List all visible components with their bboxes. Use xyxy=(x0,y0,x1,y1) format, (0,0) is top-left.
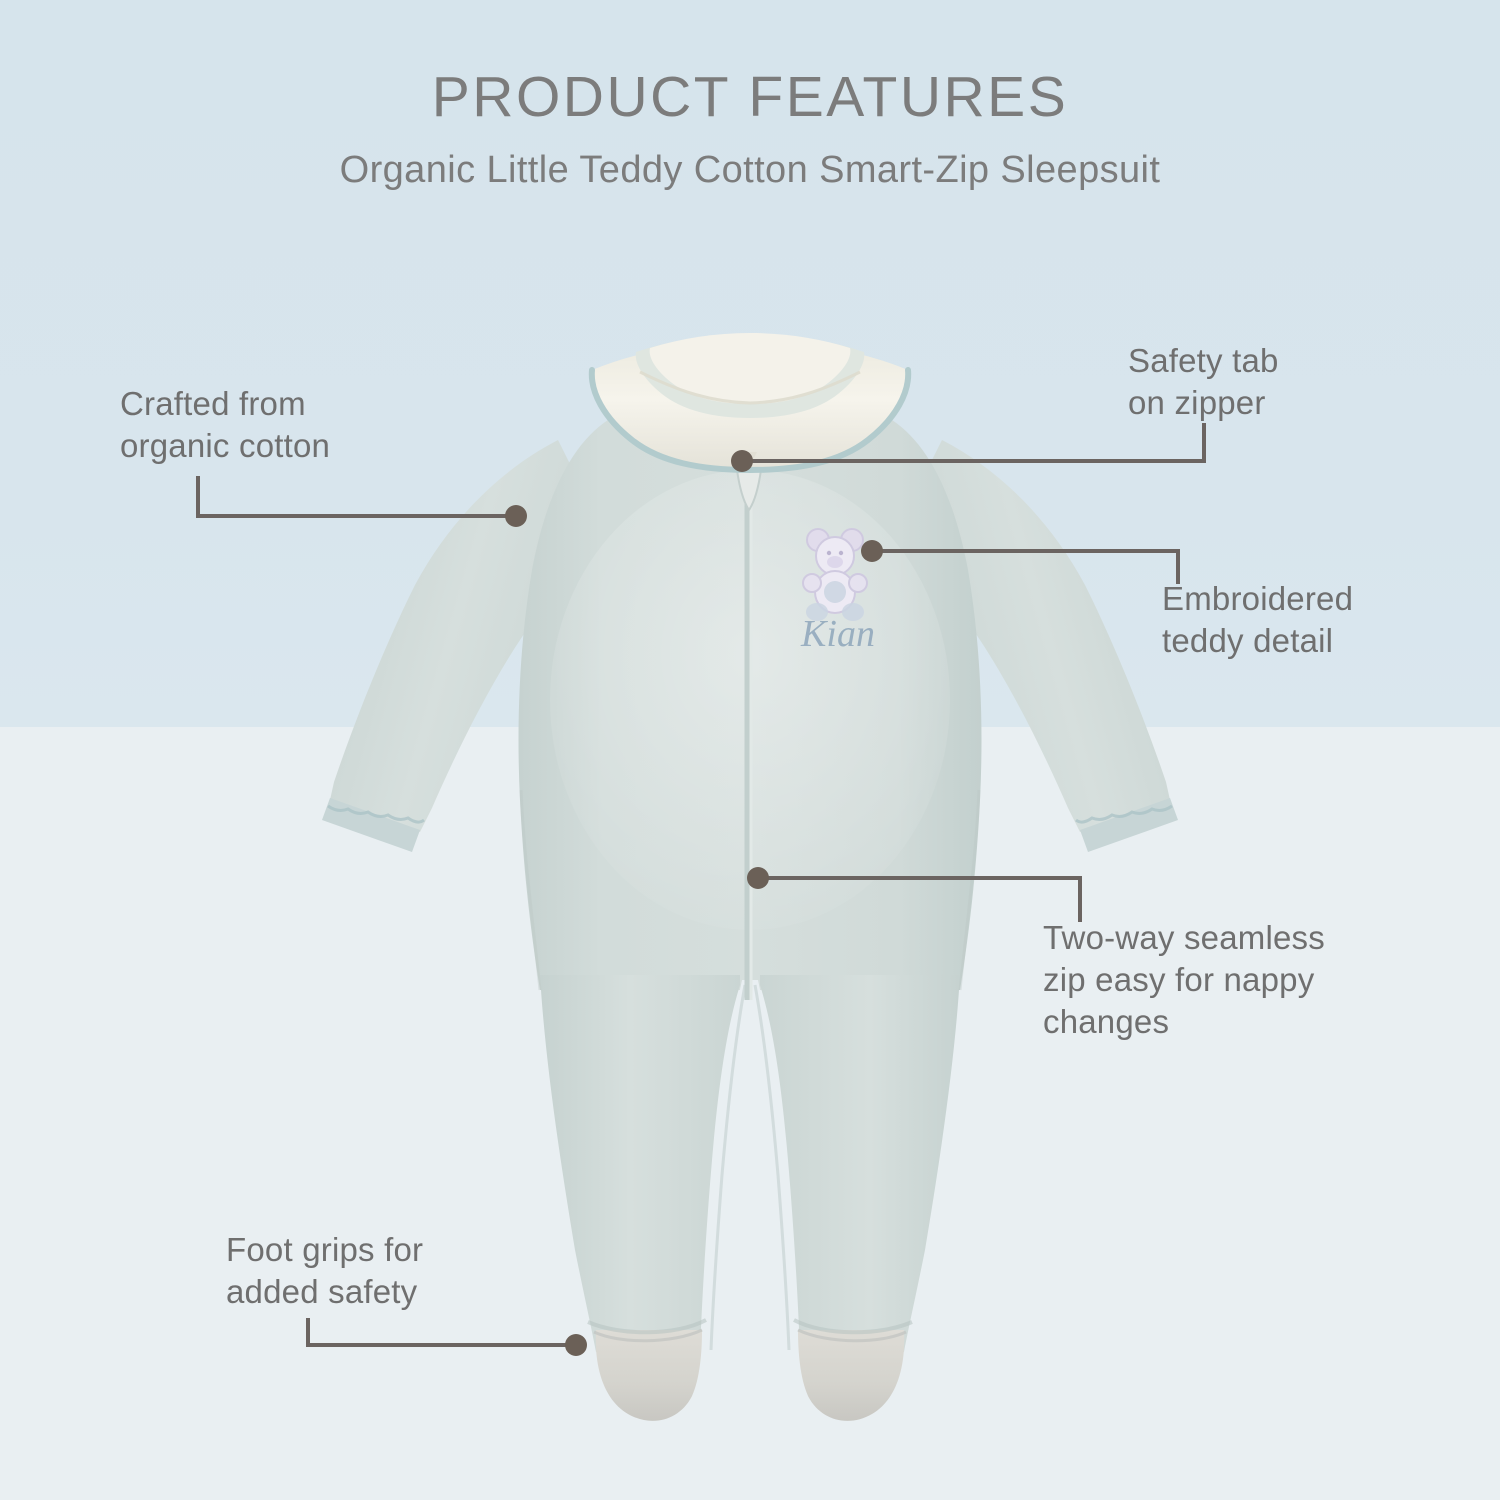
callout-label-foot-grips: Foot grips for added safety xyxy=(226,1229,626,1313)
product-features-infographic: Kian PRODUCT FEATURES Organic L xyxy=(0,0,1500,1500)
callout-label-two-way-zip: Two-way seamless zip easy for nappy chan… xyxy=(1043,917,1413,1044)
callout-label-safety-tab: Safety tab on zipper xyxy=(1128,340,1458,424)
background-band-bottom xyxy=(0,727,1500,1500)
callout-label-organic-cotton: Crafted from organic cotton xyxy=(120,383,540,467)
callout-label-embroidered-teddy: Embroidered teddy detail xyxy=(1162,578,1500,662)
heading-block: PRODUCT FEATURES Organic Little Teddy Co… xyxy=(0,68,1500,192)
page-subtitle: Organic Little Teddy Cotton Smart-Zip Sl… xyxy=(0,150,1500,192)
page-title: PRODUCT FEATURES xyxy=(0,68,1500,128)
